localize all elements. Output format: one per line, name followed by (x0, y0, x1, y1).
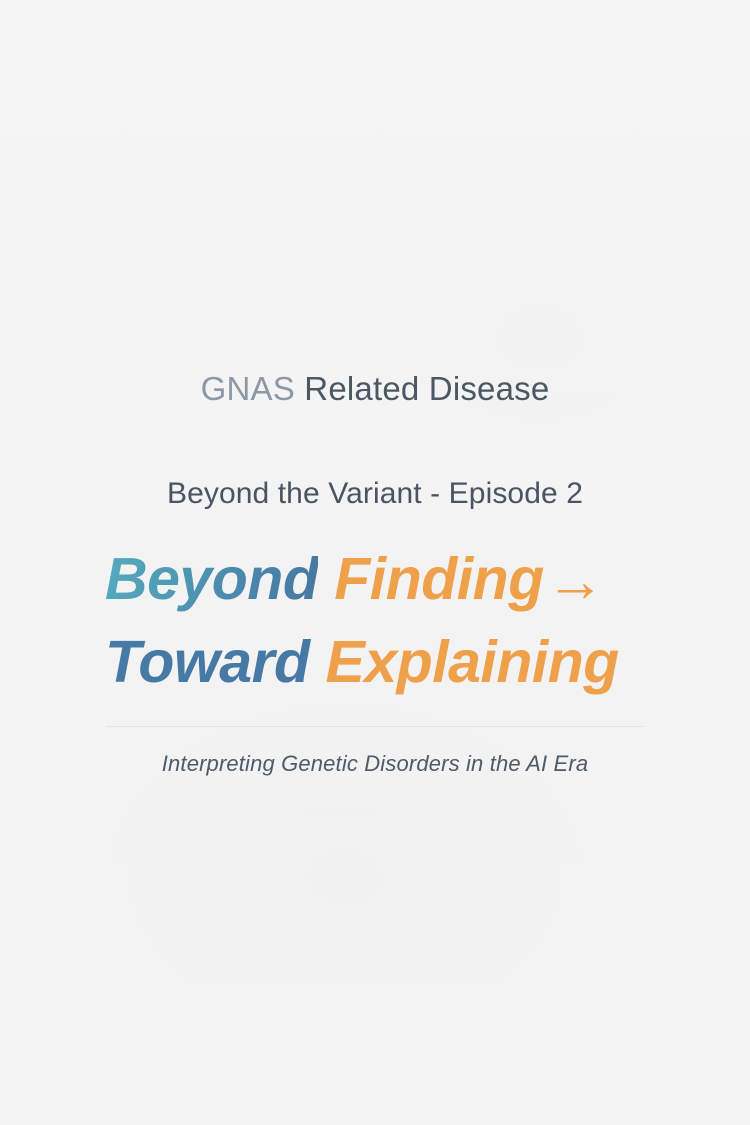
episode-label: Beyond the Variant - Episode 2 (167, 477, 583, 511)
headline-line-2: Toward Explaining (105, 622, 645, 703)
divider-rule (106, 726, 644, 727)
headline-word-explaining: Explaining (326, 629, 619, 695)
headline-line-1: Beyond Finding→ (105, 539, 645, 622)
eyebrow-space (295, 370, 304, 407)
headline-space-1 (318, 546, 334, 612)
subtitle-label: Interpreting Genetic Disorders in the AI… (162, 751, 588, 777)
gene-name-label: GNAS (201, 370, 295, 407)
right-arrow-icon: → (546, 541, 605, 622)
headline-space-2 (310, 629, 326, 695)
title-block: GNAS Related Disease Beyond the Variant … (0, 370, 750, 777)
title-slide: GNAS Related Disease Beyond the Variant … (0, 0, 750, 1125)
eyebrow-line: GNAS Related Disease (201, 370, 550, 409)
headline-block: Beyond Finding→ Toward Explaining (105, 539, 645, 704)
headline-word-toward: Toward (105, 629, 310, 695)
headline-word-finding: Finding (334, 546, 543, 612)
headline-word-beyond: Beyond (105, 546, 318, 612)
eyebrow-rest-label: Related Disease (304, 370, 549, 407)
